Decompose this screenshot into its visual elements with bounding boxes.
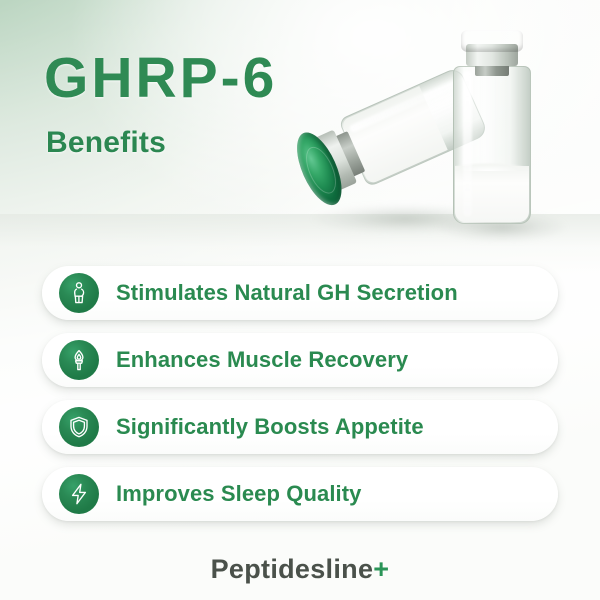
upright-vial-highlight [463, 71, 472, 217]
upright-vial [453, 30, 531, 224]
upright-vial-cap-top [461, 26, 523, 38]
ghrp6-benefits-poster: GHRP-6 Benefits [0, 0, 600, 600]
torch-icon [59, 340, 99, 380]
upright-vial-glass [453, 66, 531, 224]
body-figure-icon [59, 273, 99, 313]
brand-plus-mark: + [373, 554, 389, 584]
benefit-card-gh-secretion[interactable]: Stimulates Natural GH Secretion [42, 266, 558, 320]
brand-logo: Peptidesline+ [0, 554, 600, 585]
lightning-bolt-icon [59, 474, 99, 514]
benefit-card-sleep-quality[interactable]: Improves Sleep Quality [42, 467, 558, 521]
benefit-label: Stimulates Natural GH Secretion [116, 280, 458, 306]
peptide-vials-photo [296, 8, 596, 256]
benefit-card-muscle-recovery[interactable]: Enhances Muscle Recovery [42, 333, 558, 387]
benefit-card-boosts-appetite[interactable]: Significantly Boosts Appetite [42, 400, 558, 454]
brand-name: Peptidesline [211, 554, 374, 584]
benefit-label: Enhances Muscle Recovery [116, 347, 408, 373]
benefit-label: Improves Sleep Quality [116, 481, 362, 507]
shield-icon [59, 407, 99, 447]
benefit-label: Significantly Boosts Appetite [116, 414, 424, 440]
benefits-list: Stimulates Natural GH Secretion Enhances… [42, 266, 558, 534]
